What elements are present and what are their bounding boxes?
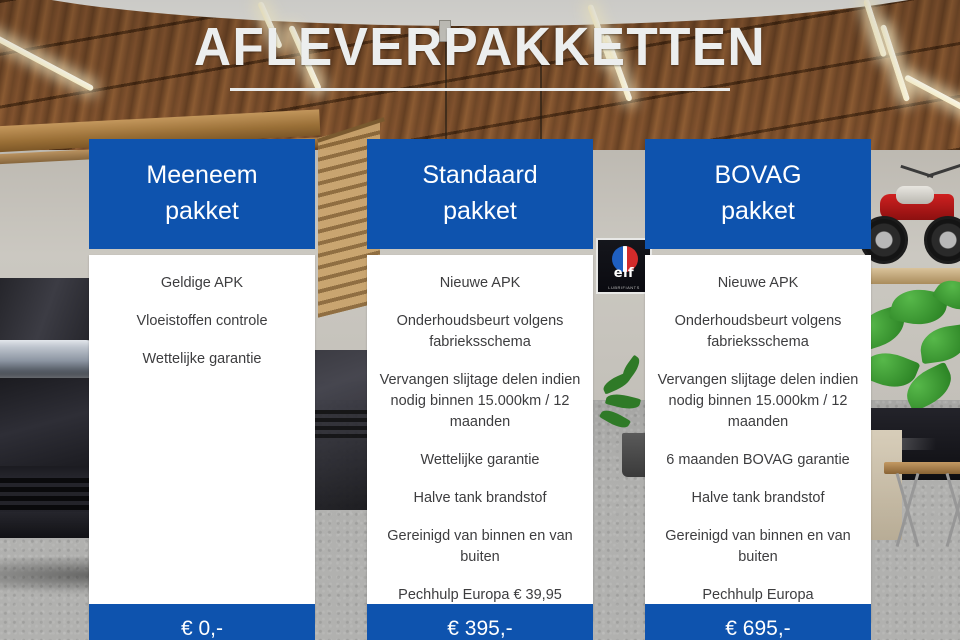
package-header: BOVAG pakket xyxy=(645,139,871,249)
feature-item: Geldige APK xyxy=(101,273,303,294)
package-card-standaard[interactable]: Standaard pakket Nieuwe APK Onderhoudsbe… xyxy=(367,139,593,622)
feature-item: Wettelijke garantie xyxy=(379,450,581,471)
feature-item: Halve tank brandstof xyxy=(657,488,859,509)
package-name-line1: Meeneem xyxy=(99,157,305,193)
pricing-cards: Meeneem pakket Geldige APK Vloeistoffen … xyxy=(0,139,960,640)
pricing-page: elf LUBRIFIANTS xyxy=(0,0,960,640)
package-name-line2: pakket xyxy=(99,193,305,229)
package-name-line1: BOVAG xyxy=(655,157,861,193)
feature-item: Pechhulp Europa xyxy=(657,585,859,606)
feature-item: Gereinigd van binnen en van buiten xyxy=(379,526,581,568)
feature-item: Vloeistoffen controle xyxy=(101,311,303,332)
feature-item: Vervangen slijtage delen indien nodig bi… xyxy=(379,370,581,433)
package-feature-list: Nieuwe APK Onderhoudsbeurt volgens fabri… xyxy=(367,255,593,622)
package-price: € 695,- xyxy=(645,604,871,640)
feature-item: Halve tank brandstof xyxy=(379,488,581,509)
feature-item: Onderhoudsbeurt volgens fabrieksschema xyxy=(379,311,581,353)
package-card-bovag[interactable]: BOVAG pakket Nieuwe APK Onderhoudsbeurt … xyxy=(645,139,871,622)
feature-item: Onderhoudsbeurt volgens fabrieksschema xyxy=(657,311,859,353)
package-name-line2: pakket xyxy=(377,193,583,229)
package-name-line1: Standaard xyxy=(377,157,583,193)
package-header: Standaard pakket xyxy=(367,139,593,249)
package-name-line2: pakket xyxy=(655,193,861,229)
title-divider xyxy=(230,88,730,91)
package-card-meeneem[interactable]: Meeneem pakket Geldige APK Vloeistoffen … xyxy=(89,139,315,622)
package-header: Meeneem pakket xyxy=(89,139,315,249)
feature-item: Vervangen slijtage delen indien nodig bi… xyxy=(657,370,859,433)
package-price: € 0,- xyxy=(89,604,315,640)
feature-item: Nieuwe APK xyxy=(657,273,859,294)
feature-item: Nieuwe APK xyxy=(379,273,581,294)
page-title: AFLEVERPAKKETTEN xyxy=(194,18,766,76)
package-feature-list: Geldige APK Vloeistoffen controle Wettel… xyxy=(89,255,315,622)
feature-item: Gereinigd van binnen en van buiten xyxy=(657,526,859,568)
package-price: € 395,- xyxy=(367,604,593,640)
feature-item: Pechhulp Europa € 39,95 xyxy=(379,585,581,606)
package-feature-list: Nieuwe APK Onderhoudsbeurt volgens fabri… xyxy=(645,255,871,622)
feature-item: 6 maanden BOVAG garantie xyxy=(657,450,859,471)
page-header: AFLEVERPAKKETTEN xyxy=(0,18,960,91)
feature-item: Wettelijke garantie xyxy=(101,349,303,370)
